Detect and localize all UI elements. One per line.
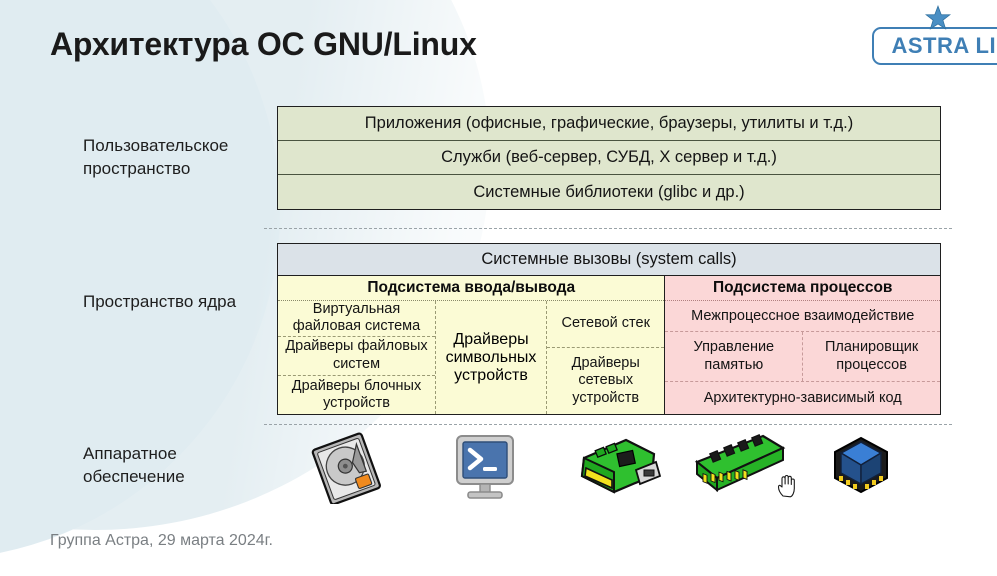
io-cell-network-stack: Сетевой стек	[547, 301, 664, 347]
ram-module-icon	[689, 432, 789, 500]
user-space-row-system-libraries: Системные библиотеки (glibc и др.)	[278, 175, 940, 209]
section-label-hardware: Аппаратное обеспечение	[83, 443, 273, 489]
divider-user-kernel	[264, 228, 952, 229]
user-space-row-services: Служби (веб-сервер, СУБД, X сервер и т.д…	[278, 141, 940, 175]
kernel-subsystems: Подсистема ввода/вывода Виртуальная файл…	[278, 276, 940, 414]
divider-kernel-hardware	[264, 424, 952, 425]
section-label-user-space: Пользовательское пространство	[83, 135, 273, 181]
user-space-row-applications: Приложения (офисные, графические, браузе…	[278, 107, 940, 141]
process-cell-arch-code: Архитектурно-зависимый код	[665, 382, 940, 414]
io-subsystem-body: Виртуальная файловая система Драйверы фа…	[278, 301, 664, 414]
io-cell-fs-drivers: Драйверы файловых систем	[278, 336, 435, 375]
process-middle-row: Управление памятью Планировщик процессов	[665, 331, 940, 382]
io-subsystem: Подсистема ввода/вывода Виртуальная файл…	[278, 276, 665, 414]
hardware-icons-row	[277, 432, 941, 504]
cpu-chip-icon	[827, 432, 895, 500]
astra-linux-logo: ASTRA LIN	[872, 27, 997, 65]
slide-root: Архитектура ОС GNU/Linux ASTRA LIN Польз…	[0, 0, 997, 576]
io-right-column: Сетевой стек Драйверы сетевых устройств	[547, 301, 664, 414]
network-card-icon	[574, 432, 666, 500]
process-subsystem: Подсистема процессов Межпроцессное взаим…	[665, 276, 940, 414]
hard-disk-icon	[307, 432, 385, 504]
process-cell-scheduler: Планировщик процессов	[802, 332, 940, 381]
monitor-terminal-icon	[449, 432, 521, 502]
section-label-kernel-space: Пространство ядра	[83, 291, 273, 314]
process-cell-ipc: Межпроцессное взаимодействие	[665, 301, 940, 331]
system-calls-bar: Системные вызовы (system calls)	[278, 244, 940, 276]
io-left-column: Виртуальная файловая система Драйверы фа…	[278, 301, 435, 414]
io-cell-network-drivers: Драйверы сетевых устройств	[547, 347, 664, 414]
slide-content: Архитектура ОС GNU/Linux ASTRA LIN Польз…	[0, 0, 997, 576]
process-cell-memory-management: Управление памятью	[665, 332, 802, 381]
footer-text: Группа Астра, 29 марта 2024г.	[50, 532, 273, 550]
io-cell-char-drivers: Драйверы символьных устройств	[435, 301, 547, 414]
io-cell-vfs: Виртуальная файловая система	[278, 301, 435, 336]
process-subsystem-body: Межпроцессное взаимодействие Управление …	[665, 301, 940, 414]
star-icon	[925, 5, 951, 31]
kernel-space-block: Системные вызовы (system calls) Подсисте…	[277, 243, 941, 415]
page-title: Архитектура ОС GNU/Linux	[50, 26, 477, 63]
user-space-block: Приложения (офисные, графические, браузе…	[277, 106, 941, 210]
process-subsystem-header: Подсистема процессов	[665, 276, 940, 301]
io-cell-block-drivers: Драйверы блочных устройств	[278, 375, 435, 414]
io-subsystem-header: Подсистема ввода/вывода	[278, 276, 664, 301]
astra-linux-logo-text: ASTRA LIN	[891, 33, 997, 59]
